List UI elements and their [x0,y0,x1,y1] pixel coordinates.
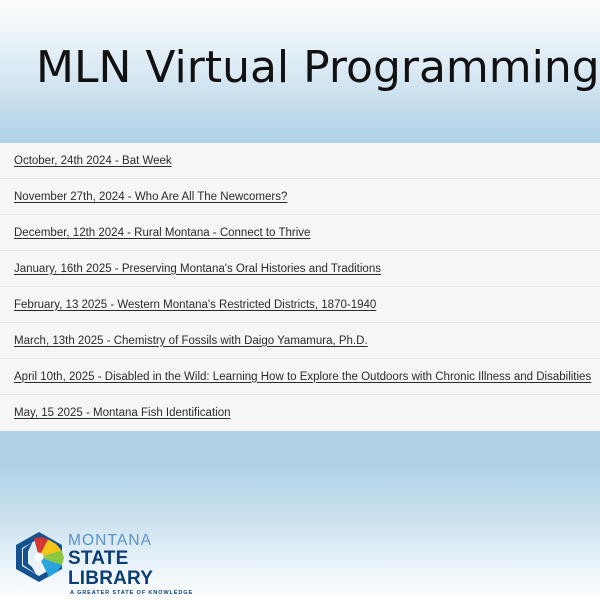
logo-wordmark: MONTANA STATE LIBRARY A GREATER STATE OF… [68,533,198,598]
logo-line-state-library: STATE LIBRARY [68,549,198,589]
list-item[interactable]: May, 15 2025 - Montana Fish Identificati… [0,395,600,431]
session-link[interactable]: October, 24th 2024 - Bat Week [14,154,172,168]
session-link[interactable]: February, 13 2025 - Western Montana's Re… [14,298,376,312]
header-band: MLN Virtual Programming [0,0,600,143]
session-link[interactable]: March, 13th 2025 - Chemistry of Fossils … [14,334,368,348]
list-item[interactable]: February, 13 2025 - Western Montana's Re… [0,287,600,323]
logo-line-montana: MONTANA [68,533,198,549]
list-item[interactable]: April 10th, 2025 - Disabled in the Wild:… [0,359,600,395]
logo-tagline: A GREATER STATE OF KNOWLEDGE [68,589,198,598]
session-link[interactable]: May, 15 2025 - Montana Fish Identificati… [14,406,231,420]
page-title: MLN Virtual Programming [36,42,600,94]
list-item[interactable]: March, 13th 2025 - Chemistry of Fossils … [0,323,600,359]
session-list: October, 24th 2024 - Bat Week November 2… [0,143,600,431]
list-item[interactable]: January, 16th 2025 - Preserving Montana'… [0,251,600,287]
session-link[interactable]: November 27th, 2024 - Who Are All The Ne… [14,190,287,204]
session-link[interactable]: December, 12th 2024 - Rural Montana - Co… [14,226,310,240]
montana-state-library-logo: MONTANA STATE LIBRARY A GREATER STATE OF… [12,528,197,586]
list-item[interactable]: November 27th, 2024 - Who Are All The Ne… [0,179,600,215]
slide-canvas: MLN Virtual Programming October, 24th 20… [0,0,600,600]
hexagon-logo-icon [12,530,66,584]
session-link[interactable]: April 10th, 2025 - Disabled in the Wild:… [14,370,591,384]
list-item[interactable]: October, 24th 2024 - Bat Week [0,143,600,179]
session-link[interactable]: January, 16th 2025 - Preserving Montana'… [14,262,381,276]
list-item[interactable]: December, 12th 2024 - Rural Montana - Co… [0,215,600,251]
